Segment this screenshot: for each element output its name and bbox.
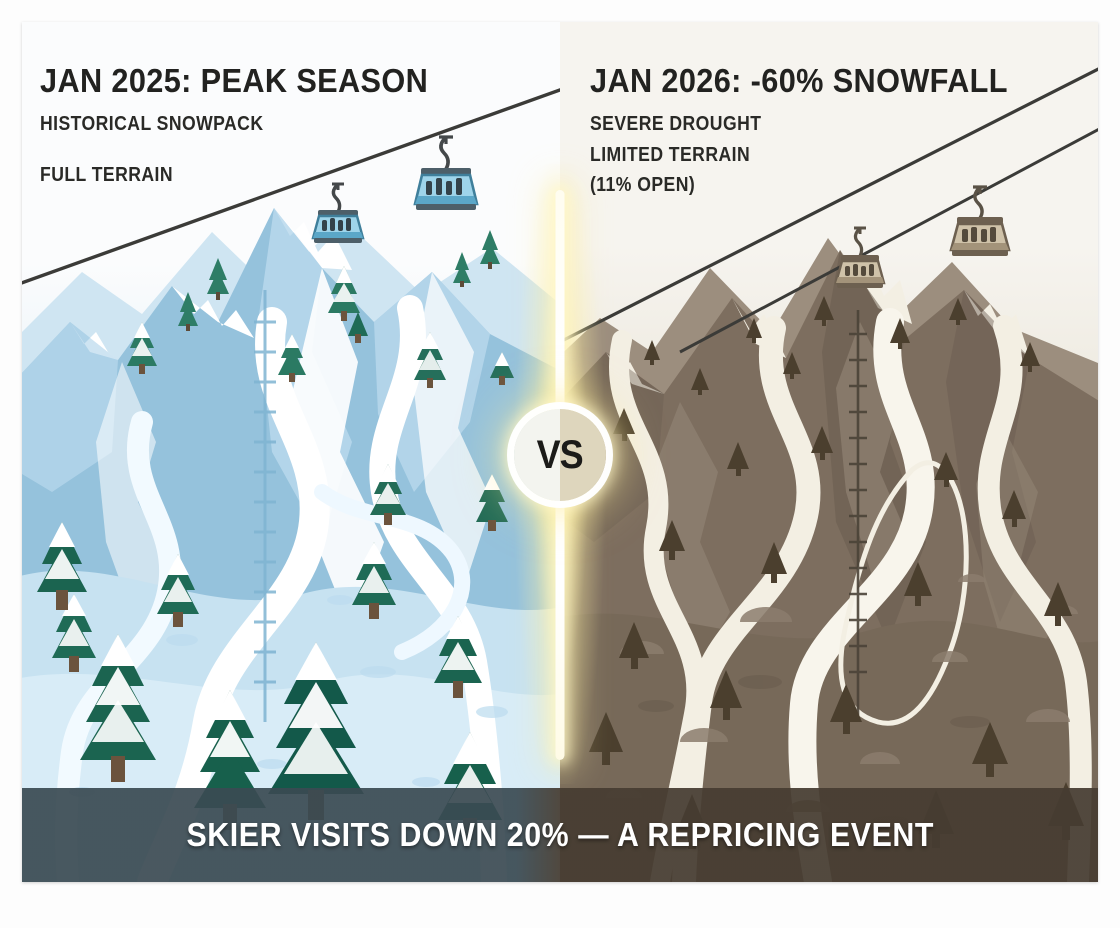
right-headline: JAN 2026: -60% SNOWFALL: [590, 64, 1008, 98]
left-subline-2: FULL TERRAIN: [40, 163, 407, 187]
gondola-cabin-icon-1: [836, 228, 884, 288]
banner-text: SKIER VISITS DOWN 20% — A REPRICING EVEN…: [186, 816, 933, 854]
right-panel-drought: JAN 2026: -60% SNOWFALL SEVERE DROUGHT L…: [560, 22, 1098, 882]
right-subline-1: SEVERE DROUGHT: [590, 112, 985, 136]
left-text-block: JAN 2025: PEAK SEASON HISTORICAL SNOWPAC…: [40, 64, 457, 187]
vs-label: VS: [537, 433, 583, 478]
right-subline-2: LIMITED TERRAIN: [590, 143, 985, 167]
infographic-stage: JAN 2025: PEAK SEASON HISTORICAL SNOWPAC…: [0, 0, 1120, 928]
left-subline-1: HISTORICAL SNOWPACK: [40, 112, 407, 136]
right-subline-3: (11% OPEN): [590, 173, 985, 197]
left-panel-peak-season: JAN 2025: PEAK SEASON HISTORICAL SNOWPAC…: [22, 22, 560, 882]
versus-badge-icon: VS: [514, 409, 606, 501]
comparison-panel: JAN 2025: PEAK SEASON HISTORICAL SNOWPAC…: [22, 22, 1098, 882]
bottom-banner: SKIER VISITS DOWN 20% — A REPRICING EVEN…: [22, 788, 1098, 882]
gondola-cabin-icon-1: [313, 184, 363, 243]
right-text-block: JAN 2026: -60% SNOWFALL SEVERE DROUGHT L…: [590, 64, 1039, 197]
left-headline: JAN 2025: PEAK SEASON: [40, 64, 428, 98]
